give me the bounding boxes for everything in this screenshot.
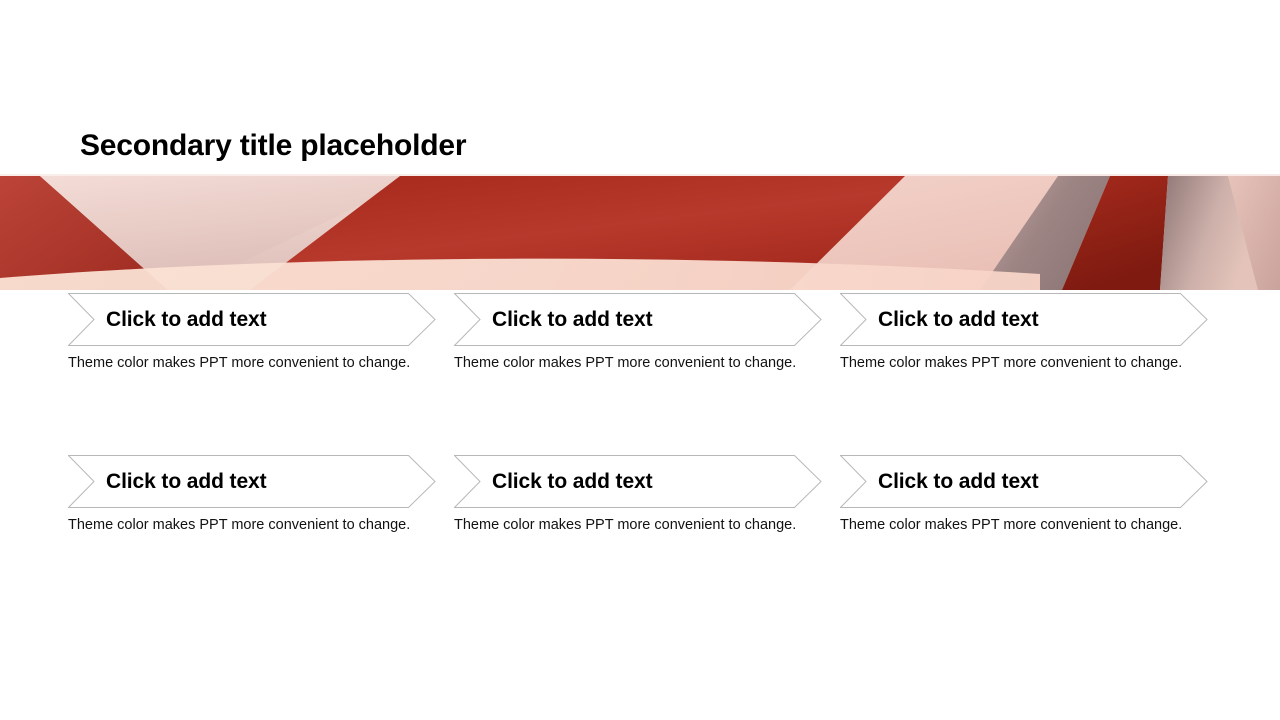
banner-graphic xyxy=(0,174,1280,290)
chevron-heading: Click to add text xyxy=(106,293,267,346)
page-title: Secondary title placeholder xyxy=(80,129,466,162)
chevron-banner-3[interactable]: Click to add text xyxy=(840,293,1208,346)
chevron-cell-6: Click to add text Theme color makes PPT … xyxy=(840,455,1226,575)
chevron-cell-4: Click to add text Theme color makes PPT … xyxy=(68,455,454,575)
chevron-heading: Click to add text xyxy=(492,455,653,508)
presentation-slide: Secondary title placeholder xyxy=(0,0,1280,720)
chevron-banner-4[interactable]: Click to add text xyxy=(68,455,436,508)
chevron-banner-2[interactable]: Click to add text xyxy=(454,293,822,346)
chevron-cell-5: Click to add text Theme color makes PPT … xyxy=(454,455,840,575)
chevron-banner-6[interactable]: Click to add text xyxy=(840,455,1208,508)
chevron-body-text: Theme color makes PPT more convenient to… xyxy=(68,351,413,376)
chevron-body-text: Theme color makes PPT more convenient to… xyxy=(454,513,799,538)
chevron-body-text: Theme color makes PPT more convenient to… xyxy=(840,513,1185,538)
chevron-heading: Click to add text xyxy=(878,293,1039,346)
chevron-cell-3: Click to add text Theme color makes PPT … xyxy=(840,293,1226,413)
chevron-cell-1: Click to add text Theme color makes PPT … xyxy=(68,293,454,413)
chevron-cell-2: Click to add text Theme color makes PPT … xyxy=(454,293,840,413)
chevron-body-text: Theme color makes PPT more convenient to… xyxy=(68,513,413,538)
chevron-body-text: Theme color makes PPT more convenient to… xyxy=(454,351,799,376)
chevron-banner-1[interactable]: Click to add text xyxy=(68,293,436,346)
chevron-heading: Click to add text xyxy=(878,455,1039,508)
chevron-banner-5[interactable]: Click to add text xyxy=(454,455,822,508)
chevron-heading: Click to add text xyxy=(106,455,267,508)
decorative-banner xyxy=(0,174,1280,290)
chevron-body-text: Theme color makes PPT more convenient to… xyxy=(840,351,1185,376)
chevron-heading: Click to add text xyxy=(492,293,653,346)
